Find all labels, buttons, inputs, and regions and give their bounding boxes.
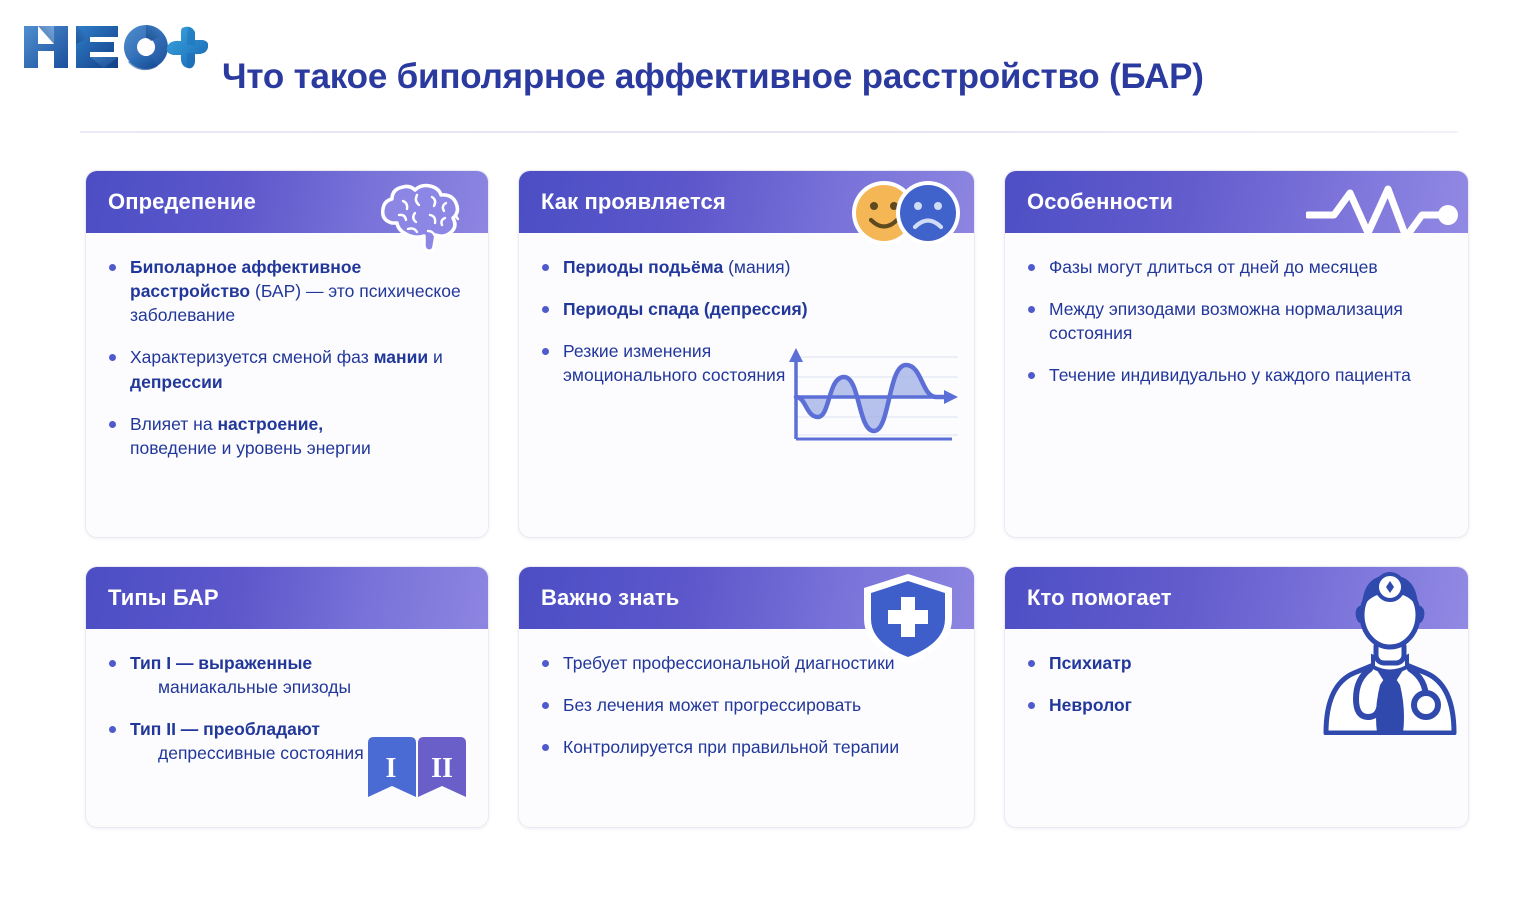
bullet-subline: поведение и уровень энергии xyxy=(130,436,468,460)
bullet-strong: Периоды подьёма xyxy=(563,257,723,277)
card-who-helps[interactable]: Кто помогает xyxy=(1004,566,1469,828)
list-item: Требует профессиональной диагностики xyxy=(539,651,954,675)
list-item: Между эпизодами возможна нормализация со… xyxy=(1025,297,1448,345)
bullet-strong-2: депрессии xyxy=(130,372,223,392)
bullet-strong: мании xyxy=(374,347,429,367)
list-item: Тип I — выраженные маниакальные эпизоды xyxy=(106,651,468,699)
card-title: Важно знать xyxy=(541,585,679,611)
bullet-strong: Периоды спада (депрессия) xyxy=(563,299,808,319)
card-title: Опредепение xyxy=(108,189,256,215)
list-item: Психиатр xyxy=(1025,651,1448,675)
card-features[interactable]: Особенности Фазы могут длиться от дней д… xyxy=(1004,170,1469,538)
bullet-lead: Влияет на xyxy=(130,414,217,434)
list-item: Влияет на настроение, поведение и уровен… xyxy=(106,412,468,460)
card-header-important: Важно знать xyxy=(519,567,974,629)
page-title: Что такое биполярное аффективное расстро… xyxy=(222,57,1204,97)
card-header-definition: Опредепение xyxy=(86,171,488,233)
type-badges: I II xyxy=(362,735,472,807)
list-item: Контролируется при правильной терапии xyxy=(539,735,954,759)
neo-plus-logo xyxy=(18,18,208,76)
card-header-who-helps: Кто помогает xyxy=(1005,567,1468,629)
cards-grid: Опредепение xyxy=(85,170,1455,828)
bullet-list: Психиатр Невролог xyxy=(1025,651,1448,717)
card-body-who-helps: Психиатр Невролог xyxy=(1005,629,1468,745)
card-title: Кто помогает xyxy=(1027,585,1172,611)
card-header-features: Особенности xyxy=(1005,171,1468,233)
list-item: Периоды спада (депрессия) xyxy=(539,297,954,321)
card-definition[interactable]: Опредепение xyxy=(85,170,489,538)
bullet-lead: Резкие изменения xyxy=(563,341,711,361)
bullet-mid: и xyxy=(428,347,443,367)
bullet-list: Фазы могут длиться от дней до месяцев Ме… xyxy=(1025,255,1448,388)
title-divider xyxy=(80,131,1458,133)
bullet-strong: Тип II — преобладают xyxy=(130,719,320,739)
bullet-lead: Характеризуется сменой фаз xyxy=(130,347,374,367)
card-body-features: Фазы могут длиться от дней до месяцев Ме… xyxy=(1005,233,1468,416)
mood-wave-chart xyxy=(776,343,962,449)
bullet-list: Требует профессиональной диагностики Без… xyxy=(539,651,954,759)
bullet-subline: маниакальные эпизоды xyxy=(158,675,468,699)
card-title: Особенности xyxy=(1027,189,1173,215)
card-header-manifestation: Как проявляется xyxy=(519,171,974,233)
card-manifestation[interactable]: Как проявляется Период xyxy=(518,170,975,538)
list-item: Биполарное аффективное расстройство (БАР… xyxy=(106,255,468,327)
page-header: Что такое биполярное аффективное расстро… xyxy=(0,0,1536,140)
list-item: Без лечения может прогрессировать xyxy=(539,693,954,717)
card-types[interactable]: Типы БАР Тип I — выраженные маниакальные… xyxy=(85,566,489,828)
card-body-definition: Биполарное аффективное расстройство (БАР… xyxy=(86,233,488,488)
list-item: Фазы могут длиться от дней до месяцев xyxy=(1025,255,1448,279)
bullet-strong: Тип I — выраженные xyxy=(130,653,312,673)
bullet-list: Биполарное аффективное расстройство (БАР… xyxy=(106,255,468,460)
list-item: Периоды подьёма (мания) xyxy=(539,255,954,279)
bullet-strong: настроение, xyxy=(217,414,323,434)
card-header-types: Типы БАР xyxy=(86,567,488,629)
card-important[interactable]: Важно знать Требует профессиональной диа… xyxy=(518,566,975,828)
card-title: Типы БАР xyxy=(108,585,219,611)
list-item: Невролог xyxy=(1025,693,1448,717)
badge-label-2: II xyxy=(431,753,453,784)
badge-label-1: I xyxy=(386,753,397,784)
list-item: Течение индивидуально у каждого пациента xyxy=(1025,363,1448,387)
bullet-rest: (мания) xyxy=(723,257,790,277)
list-item: Характеризуется сменой фаз мании и депре… xyxy=(106,345,468,393)
card-body-important: Требует профессиональной диагностики Без… xyxy=(519,629,974,787)
card-title: Как проявляется xyxy=(541,189,726,215)
